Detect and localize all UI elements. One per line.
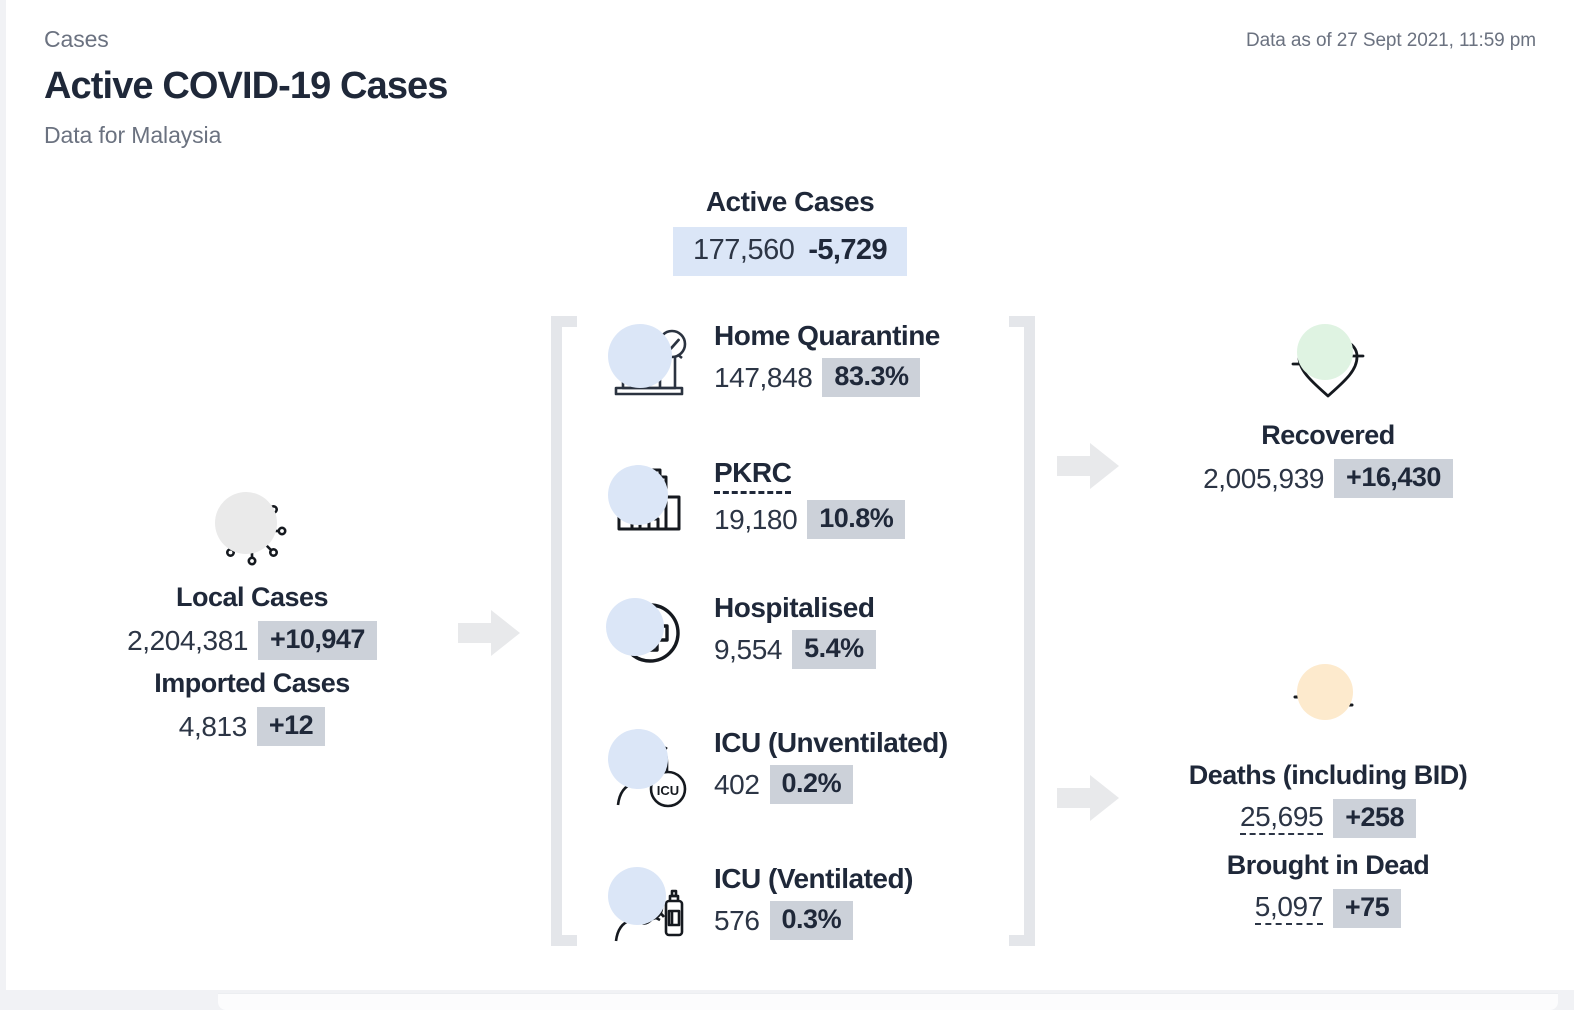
cases-source-group: Local Cases 2,204,381 +10,947 Imported C…	[66, 488, 438, 746]
breakdown-row-pkrc: PKRC 19,180 10.8%	[606, 455, 905, 541]
icu-ventilated-value: 576	[714, 905, 760, 937]
local-cases-value: 2,204,381	[127, 625, 248, 657]
icu-doctor-icon: ICU	[606, 725, 692, 811]
pkrc-label[interactable]: PKRC	[714, 457, 791, 494]
local-cases-delta: +10,947	[258, 621, 377, 660]
svg-text:ICU: ICU	[657, 783, 679, 798]
active-cases-label: Active Cases	[6, 186, 1574, 218]
icu-unventilated-row: 402 0.2%	[714, 765, 948, 804]
active-cases-summary: Active Cases 177,560 -5,729	[6, 186, 1574, 276]
flatline-pulse-icon	[1285, 662, 1371, 748]
flow-arrow-to-recovered	[1057, 443, 1119, 489]
medical-cross-circle-icon	[606, 590, 692, 676]
hospitalised-label: Hospitalised	[714, 592, 876, 624]
deaths-delta: +258	[1333, 799, 1416, 838]
icu-unventilated-pct: 0.2%	[770, 765, 854, 804]
active-cases-delta: -5,729	[808, 234, 887, 267]
hospitalised-pct: 5.4%	[792, 630, 876, 669]
brought-in-dead-label: Brought in Dead	[1136, 850, 1520, 881]
breakdown-bracket-right	[1009, 316, 1035, 946]
recovered-value: 2,005,939	[1203, 463, 1324, 495]
flow-arrow-to-deaths	[1057, 775, 1119, 821]
imported-cases-row: 4,813 +12	[66, 707, 438, 746]
icu-ventilated-label: ICU (Ventilated)	[714, 863, 913, 895]
deaths-group: Deaths (including BID) 25,695 +258 Broug…	[1136, 662, 1520, 928]
breakdown-row-hospitalised: Hospitalised 9,554 5.4%	[606, 590, 876, 676]
virus-icon	[209, 488, 295, 574]
deaths-row: 25,695 +258	[1136, 799, 1520, 838]
breakdown-row-home-quarantine: Home Quarantine 147,848 83.3%	[606, 318, 940, 404]
pkrc-pct: 10.8%	[807, 500, 905, 539]
page-header: Cases Active COVID-19 Cases Data for Mal…	[44, 26, 448, 149]
pkrc-row: 19,180 10.8%	[714, 500, 905, 539]
pkrc-value: 19,180	[714, 504, 797, 536]
page-title: Active COVID-19 Cases	[44, 65, 448, 108]
page-subtitle: Data for Malaysia	[44, 122, 448, 149]
breakdown-row-icu-unventilated: ICU ICU (Unventilated) 402 0.2%	[606, 725, 948, 811]
dashboard-card: Cases Active COVID-19 Cases Data for Mal…	[6, 0, 1574, 990]
card-bottom-edge	[218, 993, 1558, 1010]
deaths-label: Deaths (including BID)	[1136, 760, 1520, 791]
imported-cases-label: Imported Cases	[66, 668, 438, 699]
breakdown-bracket-left	[551, 316, 577, 946]
recovered-label: Recovered	[1136, 420, 1520, 451]
hospital-building-icon	[606, 455, 692, 541]
home-quarantine-value: 147,848	[714, 362, 812, 394]
icu-unventilated-value: 402	[714, 769, 760, 801]
icu-unventilated-label: ICU (Unventilated)	[714, 727, 948, 759]
icu-ventilated-pct: 0.3%	[770, 901, 854, 940]
brought-in-dead-row: 5,097 +75	[1136, 889, 1520, 928]
data-timestamp: Data as of 27 Sept 2021, 11:59 pm	[1246, 30, 1536, 52]
local-cases-row: 2,204,381 +10,947	[66, 621, 438, 660]
imported-cases-delta: +12	[257, 707, 325, 746]
recovered-row: 2,005,939 +16,430	[1136, 459, 1520, 498]
brought-in-dead-delta: +75	[1333, 889, 1401, 928]
flow-arrow-to-breakdown	[458, 610, 520, 656]
local-cases-label: Local Cases	[66, 582, 438, 613]
home-quarantine-row: 147,848 83.3%	[714, 358, 940, 397]
icu-ventilator-patient-icon	[606, 861, 692, 947]
home-quarantine-label: Home Quarantine	[714, 320, 940, 352]
breakdown-row-icu-ventilated: ICU (Ventilated) 576 0.3%	[606, 861, 913, 947]
recovered-delta: +16,430	[1334, 459, 1453, 498]
recovered-group: Recovered 2,005,939 +16,430	[1136, 322, 1520, 498]
breadcrumb: Cases	[44, 26, 448, 53]
home-quarantine-icon	[606, 318, 692, 404]
hospitalised-value: 9,554	[714, 634, 782, 666]
active-cases-badge: 177,560 -5,729	[673, 227, 907, 276]
deaths-value[interactable]: 25,695	[1240, 802, 1323, 834]
active-cases-value: 177,560	[693, 234, 794, 267]
hospitalised-row: 9,554 5.4%	[714, 630, 876, 669]
imported-cases-value: 4,813	[179, 711, 247, 743]
home-quarantine-pct: 83.3%	[822, 358, 920, 397]
heart-pulse-icon	[1285, 322, 1371, 408]
brought-in-dead-value[interactable]: 5,097	[1255, 892, 1323, 924]
icu-ventilated-row: 576 0.3%	[714, 901, 913, 940]
